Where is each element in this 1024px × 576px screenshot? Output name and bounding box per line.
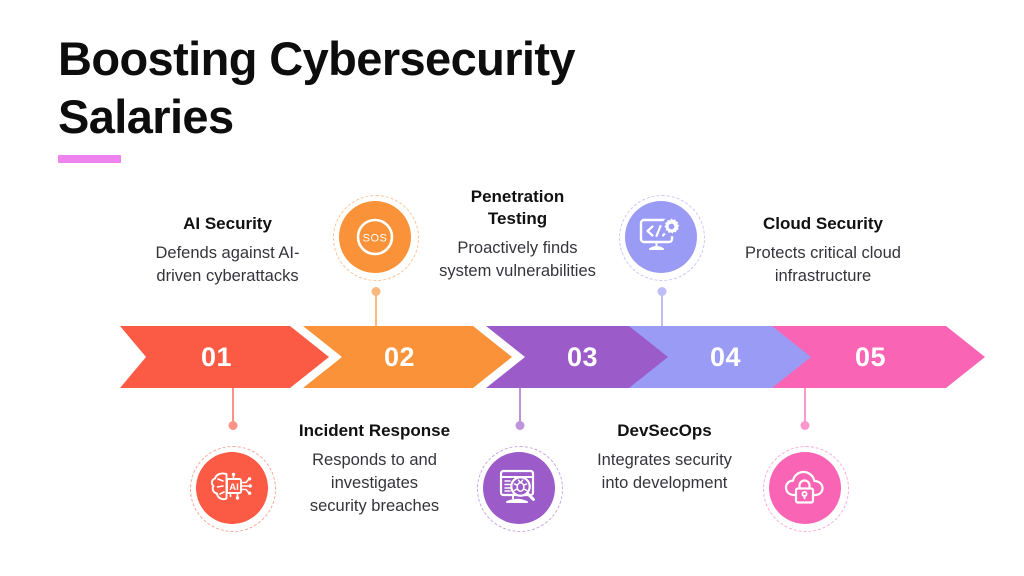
ai-brain-chip-icon: AI bbox=[209, 467, 255, 509]
connector-step-01-down bbox=[232, 388, 234, 426]
icon-circle-sos[interactable]: SOS bbox=[339, 201, 411, 273]
code-monitor-gear-icon bbox=[638, 215, 684, 259]
icon-circle-bug-scan-monitor[interactable] bbox=[483, 452, 555, 524]
callout-desc-03: Proactively finds system vulnerabilities bbox=[415, 237, 620, 283]
arrow-number-03: 03 bbox=[567, 342, 598, 373]
title-underline bbox=[58, 155, 121, 163]
callout-title-05: Cloud Security bbox=[718, 213, 928, 235]
callout-step-02: Incident Response Responds to and invest… bbox=[272, 420, 477, 518]
callout-title-04: DevSecOps bbox=[562, 420, 767, 442]
callout-desc-01: Defends against AI- driven cyberattacks bbox=[125, 242, 330, 288]
arrow-number-02: 02 bbox=[384, 342, 415, 373]
connector-dot bbox=[372, 287, 381, 296]
connector-dot bbox=[658, 287, 667, 296]
sos-icon: SOS bbox=[352, 214, 398, 260]
arrow-segment-02[interactable]: 02 bbox=[303, 326, 512, 388]
callout-step-05: Cloud Security Protects critical cloud i… bbox=[718, 213, 928, 288]
callout-title-02: Incident Response bbox=[272, 420, 477, 442]
cloud-lock-icon bbox=[783, 469, 827, 507]
icon-circle-cloud-lock[interactable] bbox=[769, 452, 841, 524]
connector-step-03-down bbox=[519, 388, 521, 426]
callout-title-03: Penetration Testing bbox=[415, 186, 620, 230]
svg-text:AI: AI bbox=[229, 482, 239, 493]
svg-text:SOS: SOS bbox=[363, 233, 388, 245]
title-block: Boosting Cybersecurity Salaries bbox=[58, 30, 698, 163]
arrow-number-04: 04 bbox=[710, 342, 741, 373]
infographic-canvas: Boosting Cybersecurity Salaries 01 02 03… bbox=[0, 0, 1024, 576]
bug-scan-monitor-icon bbox=[497, 467, 541, 509]
callout-step-03: Penetration Testing Proactively finds sy… bbox=[415, 186, 620, 283]
callout-step-01: AI Security Defends against AI- driven c… bbox=[125, 213, 330, 288]
arrow-number-05: 05 bbox=[855, 342, 886, 373]
connector-step-02-up bbox=[375, 291, 377, 329]
connector-step-05-down bbox=[804, 388, 806, 426]
callout-step-04: DevSecOps Integrates security into devel… bbox=[562, 420, 767, 495]
connector-dot bbox=[516, 421, 525, 430]
arrow-number-01: 01 bbox=[201, 342, 232, 373]
connector-step-04-up bbox=[661, 291, 663, 329]
icon-circle-code-monitor-gear[interactable] bbox=[625, 201, 697, 273]
arrow-segment-01[interactable]: 01 bbox=[120, 326, 329, 388]
connector-dot bbox=[229, 421, 238, 430]
callout-desc-02: Responds to and investigates security br… bbox=[272, 449, 477, 518]
process-arrow-band: 01 02 03 04 05 bbox=[120, 326, 906, 388]
icon-circle-ai-brain-chip[interactable]: AI bbox=[196, 452, 268, 524]
callout-title-01: AI Security bbox=[125, 213, 330, 235]
connector-dot bbox=[801, 421, 810, 430]
callout-desc-04: Integrates security into development bbox=[562, 449, 767, 495]
page-title: Boosting Cybersecurity Salaries bbox=[58, 30, 698, 146]
callout-desc-05: Protects critical cloud infrastructure bbox=[718, 242, 928, 288]
